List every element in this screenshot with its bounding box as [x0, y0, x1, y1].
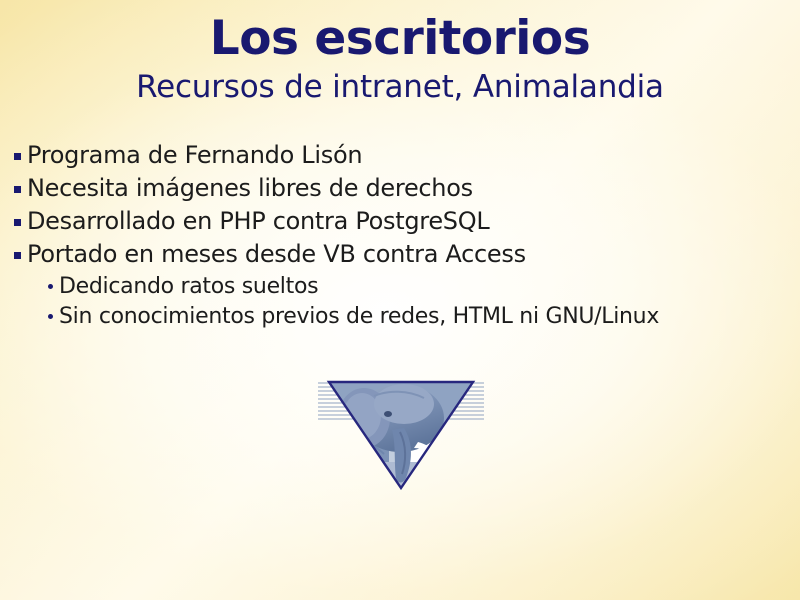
- list-item: Sin conocimientos previos de redes, HTML…: [14, 302, 789, 331]
- list-item-label: Programa de Fernando Lisón: [27, 140, 362, 171]
- list-item-label: Necesita imágenes libres de derechos: [27, 173, 473, 204]
- elephant-logo-graphic: [308, 370, 494, 500]
- square-bullet-icon: [14, 153, 21, 160]
- list-item-label: Sin conocimientos previos de redes, HTML…: [59, 302, 659, 331]
- round-bullet-icon: [48, 284, 53, 289]
- page-title: Los escritorios: [0, 14, 800, 64]
- square-bullet-icon: [14, 186, 21, 193]
- page-subtitle: Recursos de intranet, Animalandia: [0, 70, 800, 104]
- postgresql-elephant-logo: [308, 370, 494, 500]
- list-item-label: Dedicando ratos sueltos: [59, 272, 318, 301]
- list-item: Programa de Fernando Lisón: [14, 140, 789, 171]
- slide-canvas: Los escritorios Recursos de intranet, An…: [0, 0, 800, 600]
- list-item: Portado en meses desde VB contra Access: [14, 239, 789, 270]
- list-item: Necesita imágenes libres de derechos: [14, 173, 789, 204]
- square-bullet-icon: [14, 252, 21, 259]
- round-bullet-icon: [48, 314, 53, 319]
- square-bullet-icon: [14, 219, 21, 226]
- list-item: Dedicando ratos sueltos: [14, 272, 789, 301]
- title-block: Los escritorios Recursos de intranet, An…: [0, 14, 800, 104]
- elephant-image: [308, 370, 494, 500]
- list-item-label: Portado en meses desde VB contra Access: [27, 239, 526, 270]
- list-item-label: Desarrollado en PHP contra PostgreSQL: [27, 206, 489, 237]
- list-item: Desarrollado en PHP contra PostgreSQL: [14, 206, 789, 237]
- bullet-list: Programa de Fernando Lisón Necesita imág…: [14, 140, 789, 332]
